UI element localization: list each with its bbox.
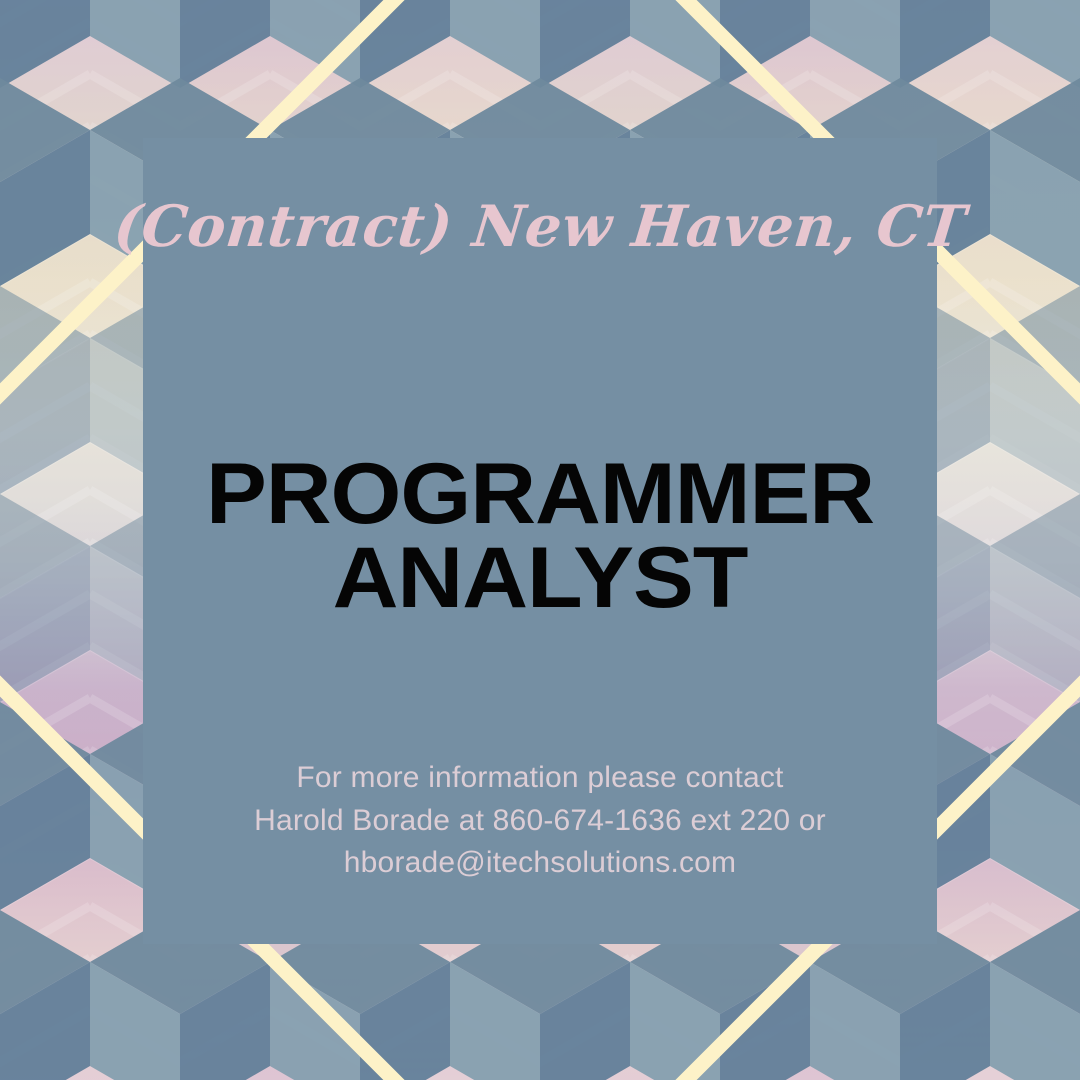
location-subtitle: (Contract) New Haven, CT <box>0 196 1080 259</box>
contact-line-1: For more information please contact <box>143 757 937 800</box>
contact-block: For more information please contact Haro… <box>143 757 937 885</box>
title-line-2: ANALYST <box>119 536 961 620</box>
title-line-1: PROGRAMMER <box>119 452 961 536</box>
poster-canvas: (Contract) New Haven, CT PROGRAMMER ANAL… <box>0 0 1080 1080</box>
page-title: PROGRAMMER ANALYST <box>119 452 961 621</box>
contact-email-line: hborade@itechsolutions.com <box>143 842 937 885</box>
contact-line-2: Harold Borade at 860-674-1636 ext 220 or <box>143 800 937 843</box>
